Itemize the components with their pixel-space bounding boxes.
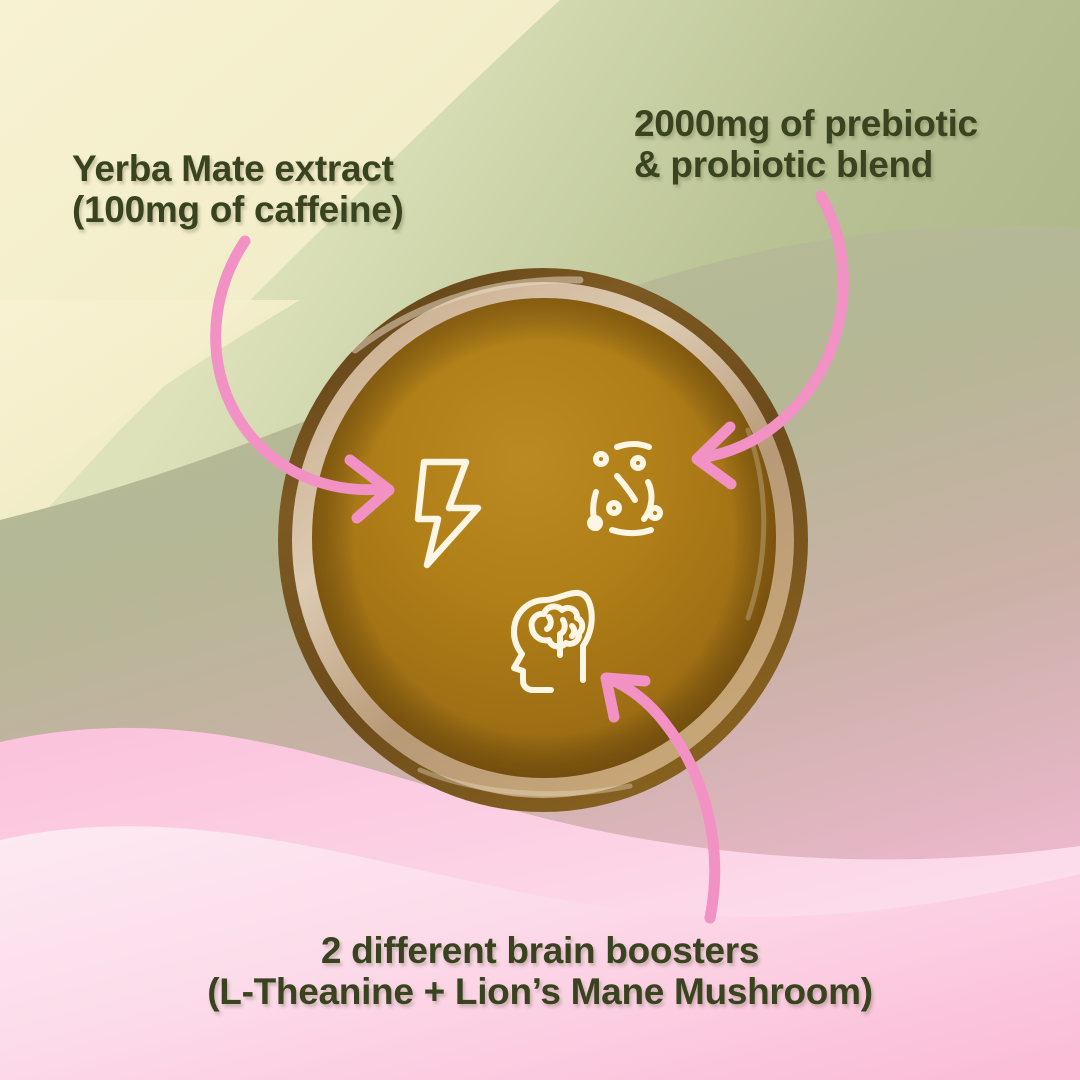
callout-yerba-mate: Yerba Mate extract (100mg of caffeine) <box>72 148 404 231</box>
callout-prebiotic: 2000mg of prebiotic & probiotic blend <box>634 103 978 186</box>
drink-liquid-shading <box>312 298 776 778</box>
callout-brain-boosters: 2 different brain boosters (L-Theanine +… <box>207 930 872 1013</box>
product-infographic: Yerba Mate extract (100mg of caffeine) 2… <box>0 0 1080 1080</box>
